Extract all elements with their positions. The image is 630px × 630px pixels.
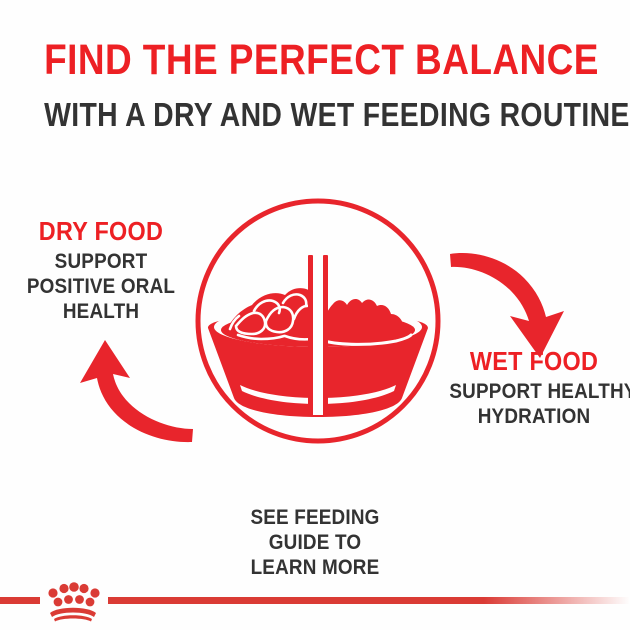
divider-gap [313,255,323,415]
poster-canvas: FIND THE PERFECT BALANCE WITH A DRY AND … [0,0,630,630]
bowl-group [208,255,428,417]
wet-food-line-1: SUPPORT HEALTHY [449,379,618,404]
wet-food-line-2: HYDRATION [449,404,618,429]
vertical-split-divider [308,255,328,415]
dry-food-label-group: DRY FOOD SUPPORT POSITIVE ORAL HEALTH [8,216,194,324]
dry-food-title: DRY FOOD [17,216,184,246]
page-subtitle: WITH A DRY AND WET FEEDING ROUTINE [44,96,586,134]
dry-food-line-3: HEALTH [17,299,184,324]
wet-food-description: SUPPORT HEALTHY HYDRATION [449,379,618,429]
divider-bar-right [323,255,328,415]
curved-arrow-down-right-icon [448,248,573,363]
cta-line-1: SEE FEEDING [32,505,599,530]
split-pet-bowl-in-circle-icon [190,193,446,449]
cta-text-group[interactable]: SEE FEEDING GUIDE TO LEARN MORE [0,505,630,580]
royal-canin-crown-icon [40,580,106,622]
footer-rule-right [108,597,630,604]
page-title: FIND THE PERFECT BALANCE [44,36,586,84]
dry-food-line-1: SUPPORT [17,249,184,274]
dry-kibble-fill [226,288,314,342]
dry-food-description: SUPPORT POSITIVE ORAL HEALTH [17,249,184,324]
divider-bar-left [308,255,313,415]
curved-arrow-up-left-icon [74,330,194,445]
cta-line-2: GUIDE TO [32,530,599,555]
dry-food-line-2: POSITIVE ORAL [17,274,184,299]
wet-food-mound [322,299,410,342]
footer-rule-left [0,597,40,604]
